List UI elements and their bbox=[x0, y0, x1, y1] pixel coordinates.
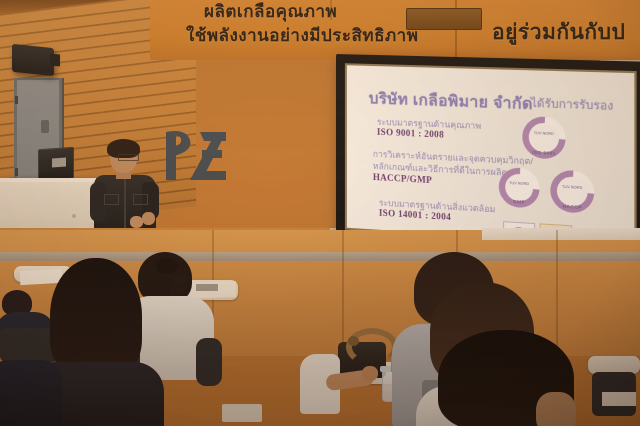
student-hair-bun bbox=[156, 258, 178, 274]
notebook bbox=[222, 404, 262, 422]
student-hair bbox=[50, 258, 142, 378]
lectern-top-edge bbox=[0, 178, 96, 182]
lecture-hall-photo: ผลิตเกลือคุณภาพ ใช้พลังงานอย่างมีประสิทธ… bbox=[0, 0, 640, 426]
list-item bbox=[300, 336, 370, 426]
slide-cert-heading: ได้รับการรับรอง bbox=[531, 93, 613, 115]
chair bbox=[196, 338, 222, 386]
door-handle-icon[interactable] bbox=[41, 120, 49, 133]
list-item bbox=[438, 330, 594, 426]
student-hand bbox=[362, 366, 378, 381]
lectern-fitting bbox=[72, 214, 76, 218]
list-item bbox=[0, 360, 58, 426]
seal-arc bbox=[541, 162, 603, 221]
glasses-icon bbox=[118, 154, 139, 161]
student-body bbox=[0, 360, 62, 426]
banner-text-line2: ใช้พลังงานอย่างมีประสิทธิภาพ bbox=[186, 22, 418, 49]
presenter-shirt-pocket bbox=[133, 194, 148, 205]
door-hinge bbox=[15, 96, 18, 104]
seal-label: GMP bbox=[499, 198, 540, 205]
student-neck bbox=[536, 392, 576, 426]
slide-item-2-standard: HACCP/GMP bbox=[373, 172, 432, 185]
glass-strip bbox=[482, 228, 640, 240]
slide-item-1-standard: ISO 9001 : 2008 bbox=[377, 127, 444, 140]
banner-text-line3: อยู่ร่วมกันกับป bbox=[492, 16, 625, 49]
slide-company-title: บริษัท เกลือพิมาย จำกัด bbox=[369, 86, 533, 116]
speaker-bracket bbox=[50, 53, 60, 66]
door-hinge bbox=[15, 168, 18, 176]
wall-speaker bbox=[12, 44, 54, 76]
pe-logo-svg bbox=[160, 124, 232, 186]
audience bbox=[0, 252, 640, 426]
presenter-shirt-pocket bbox=[104, 194, 119, 205]
pe-monogram-logo bbox=[160, 124, 232, 186]
presenter-hand-right bbox=[142, 212, 155, 225]
seal-gmp: TUV NORD GMP bbox=[499, 167, 540, 209]
laptop-screen-glare bbox=[52, 158, 66, 168]
slide-surface: บริษัท เกลือพิมาย จำกัด ได้รับการรับรอง … bbox=[347, 65, 634, 246]
seal-iso: TUV NORD ISO 9001 bbox=[522, 116, 565, 160]
handout-paper bbox=[602, 392, 636, 406]
seal-haccp: TUV NORD HACCP bbox=[550, 169, 594, 213]
